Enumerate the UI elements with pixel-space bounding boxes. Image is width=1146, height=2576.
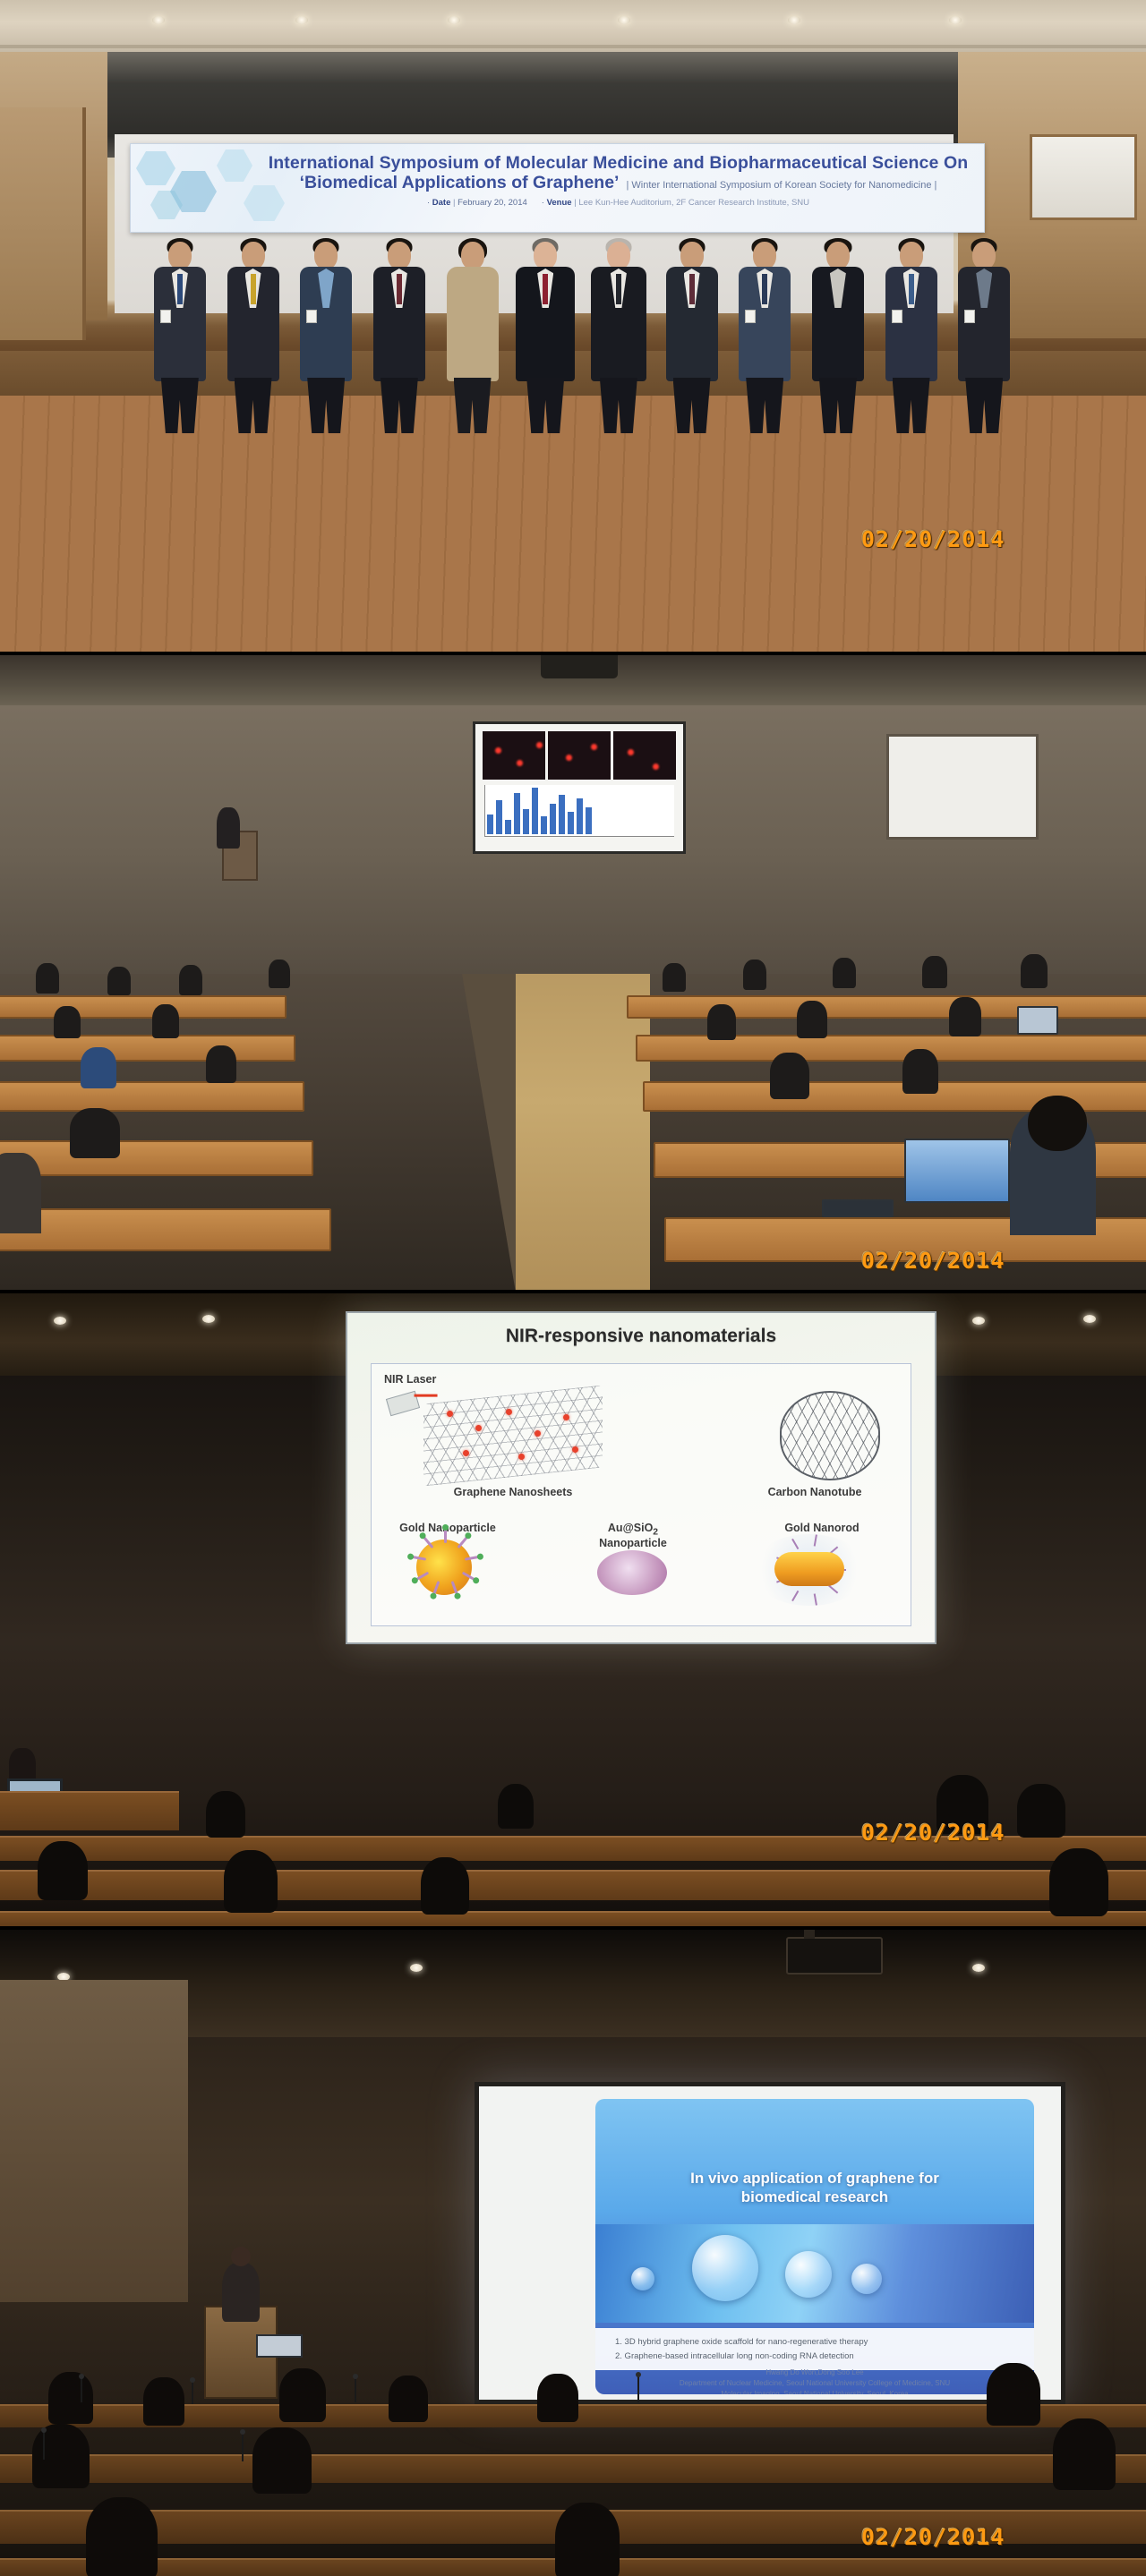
ceiling — [0, 0, 1146, 55]
ceiling-projector — [541, 655, 618, 678]
person — [947, 235, 1021, 431]
carbon-nanotube-graphic — [780, 1391, 880, 1480]
ceiling-projector — [786, 1937, 883, 1975]
audience-member — [32, 2424, 90, 2488]
desk-microphone — [192, 2381, 193, 2404]
person — [289, 235, 363, 431]
desk-microphone — [43, 2431, 45, 2460]
slide-title-line2: biomedical research — [595, 2188, 1034, 2206]
gold-nanorod-graphic — [774, 1552, 844, 1586]
side-whiteboard — [886, 734, 1039, 840]
audience-member — [1028, 1096, 1087, 1151]
audience-desk — [0, 1870, 1146, 1900]
audience-member — [833, 958, 856, 988]
desk-microphone — [81, 2377, 82, 2402]
audience-desk — [0, 1911, 1146, 1926]
audience-member — [537, 2374, 578, 2422]
desk-row — [0, 1140, 313, 1176]
panel-group-photo: International Symposium of Molecular Med… — [0, 0, 1146, 652]
audience-member — [54, 1006, 81, 1038]
photo-collage: International Symposium of Molecular Med… — [0, 0, 1146, 2576]
ceiling-light — [410, 1964, 423, 1972]
audience-member — [1021, 954, 1048, 988]
slide-bullet-1: 1. 3D hybrid graphene oxide scaffold for… — [615, 2335, 1014, 2350]
desk-row — [0, 1035, 295, 1062]
audience-member — [179, 965, 202, 995]
label-subscript: 2 — [653, 1527, 658, 1537]
podium-laptop — [256, 2334, 303, 2358]
ceiling-light — [152, 16, 165, 24]
audience-member — [152, 1004, 179, 1038]
desk-row — [627, 995, 1146, 1019]
person — [143, 235, 217, 431]
audience-member — [498, 1784, 534, 1829]
nir-laser-label: NIR Laser — [384, 1373, 436, 1386]
desk-microphone — [637, 2376, 639, 2402]
person — [217, 235, 290, 431]
audience-member — [206, 1045, 236, 1083]
au-sio2-nanoparticle-graphic — [597, 1550, 667, 1595]
banner-date-value: February 20, 2014 — [458, 198, 527, 208]
label-nanoparticle-text: Nanoparticle — [599, 1537, 667, 1549]
desk-microphone — [355, 2377, 356, 2402]
ceiling-light — [1083, 1315, 1096, 1323]
desk-microphone — [242, 2433, 244, 2461]
person — [509, 235, 582, 431]
ceiling-light — [295, 16, 308, 24]
left-wall — [0, 1980, 188, 2302]
banner-title-line2: ‘Biomedical Applications of Graphene’ — [300, 173, 620, 192]
banner-date-label: Date — [432, 198, 451, 208]
slide-title: NIR-responsive nanomaterials — [347, 1326, 935, 1347]
audience-member — [389, 2376, 428, 2422]
audience-member — [743, 960, 766, 990]
audience-member — [922, 956, 947, 988]
banner-subtitle: | Winter International Symposium of Kore… — [626, 180, 936, 192]
audience-member — [987, 2363, 1040, 2426]
ceiling-light — [54, 1317, 66, 1325]
panel-lecture-hall-wide: 02/20/2014 — [0, 655, 1146, 1290]
audience-member — [143, 2377, 184, 2426]
panel-invivo-slide: In vivo application of graphene for biom… — [0, 1930, 1146, 2576]
ceiling-light — [949, 16, 962, 24]
desk-row — [0, 995, 286, 1019]
slide-credit-line1: Hwang Do Won,Dong Soo Lee — [595, 2367, 1034, 2378]
audience-member — [48, 2372, 93, 2424]
banner-venue-label: Venue — [547, 198, 572, 208]
person — [436, 235, 509, 431]
slide-micrograph — [613, 731, 676, 780]
center-aisle — [516, 974, 650, 1290]
audience-member — [224, 1850, 278, 1913]
slide-title: In vivo application of graphene for biom… — [595, 2169, 1034, 2207]
projection-screen — [473, 721, 686, 854]
label-au-sio2-text: Au@SiO — [608, 1522, 653, 1534]
desk-row — [0, 1208, 331, 1251]
person — [582, 235, 655, 431]
label-gold-nanorod: Gold Nanorod — [764, 1522, 880, 1534]
wood-floor — [0, 396, 1146, 652]
audience-member — [797, 1001, 827, 1038]
ceiling-light — [972, 1964, 985, 1972]
panel-nir-slide: NIR-responsive nanomaterials NIR Laser G — [0, 1293, 1146, 1926]
audience-member — [707, 1004, 736, 1040]
audience-member — [206, 1791, 245, 1838]
banner-title-line1: International Symposium of Molecular Med… — [265, 153, 971, 173]
banner-venue-value: Lee Kun-Hee Auditorium, 2F Cancer Resear… — [578, 198, 809, 208]
person — [801, 235, 875, 431]
audience-member — [86, 2497, 158, 2576]
person — [655, 235, 729, 431]
slide-bar-chart — [484, 785, 674, 837]
audience-member — [949, 997, 981, 1036]
slide-bullets: 1. 3D hybrid graphene oxide scaffold for… — [595, 2328, 1034, 2370]
laser-pointer-icon — [386, 1391, 420, 1417]
ceiling-light — [972, 1317, 985, 1325]
symposium-banner: International Symposium of Molecular Med… — [130, 143, 985, 233]
presenter — [222, 2263, 260, 2322]
audience-desk-row — [0, 2454, 1146, 2483]
audience-member — [1017, 1784, 1065, 1838]
ceiling-light — [202, 1315, 215, 1323]
projection-screen: In vivo application of graphene for biom… — [475, 2082, 1065, 2404]
audience-member — [279, 2368, 326, 2422]
audience-member — [70, 1108, 120, 1158]
speaker-at-podium — [217, 807, 240, 849]
audience-member — [107, 967, 131, 995]
ceiling-light — [448, 16, 460, 24]
label-au-sio2-nanoparticle: Au@SiO2 Nanoparticle — [579, 1522, 687, 1550]
audience-member — [269, 960, 290, 988]
audience-member — [36, 963, 59, 994]
laptop — [822, 1199, 894, 1217]
audience-member — [663, 963, 686, 992]
timestamp: 02/20/2014 — [861, 526, 1005, 552]
stage-door — [0, 107, 86, 340]
slide-bullet-2: 2. Graphene-based intracellular long non… — [615, 2350, 1014, 2364]
slide-credit: Hwang Do Won,Dong Soo Lee Department of … — [595, 2367, 1034, 2394]
audience-member — [902, 1049, 938, 1094]
timestamp: 02/20/2014 — [861, 1820, 1005, 1846]
slide-title-line1: In vivo application of graphene for — [595, 2169, 1034, 2188]
desk-row — [0, 1081, 304, 1112]
audience-member — [1049, 1848, 1108, 1916]
ceiling-light — [788, 16, 800, 24]
slide-hero-image — [595, 2224, 1034, 2323]
audience-member — [252, 2427, 312, 2494]
label-carbon-nanotube: Carbon Nanotube — [739, 1486, 891, 1498]
audience-member — [555, 2503, 620, 2576]
person — [363, 235, 436, 431]
label-graphene-nanosheets: Graphene Nanosheets — [418, 1486, 608, 1498]
speaker-group — [143, 235, 1021, 431]
slide-micrograph — [548, 731, 611, 780]
slide-micrograph — [483, 731, 545, 780]
slide-credit-line2: Department of Nuclear Medicine, Seoul Na… — [595, 2378, 1034, 2389]
audience-desk — [0, 1791, 179, 1830]
person — [875, 235, 948, 431]
timestamp: 02/20/2014 — [861, 2524, 1005, 2550]
ceiling-light — [618, 16, 630, 24]
gold-nanoparticle-graphic — [416, 1540, 472, 1595]
laptop — [904, 1139, 1010, 1203]
audience-member — [38, 1841, 88, 1900]
audience-member — [1053, 2418, 1116, 2490]
audience-member — [421, 1857, 469, 1915]
slide-credit-line3: Molecular Imaging, Seoul National Univer… — [595, 2389, 1034, 2394]
graphene-nanosheet-graphic — [423, 1395, 603, 1477]
audience-member — [0, 1153, 41, 1233]
timestamp: 02/20/2014 — [861, 1248, 1005, 1274]
slide-body: NIR Laser Graphene Nanosheets Carbon Nan… — [371, 1363, 911, 1626]
banner-meta: · Date | February 20, 2014 · Venue | Lee… — [265, 198, 971, 208]
audience-member — [81, 1047, 116, 1088]
audience-member — [770, 1053, 809, 1099]
laptop — [1017, 1006, 1058, 1035]
flipchart-board — [1030, 134, 1137, 220]
projected-slide: NIR-responsive nanomaterials NIR Laser G — [346, 1311, 936, 1644]
person — [728, 235, 801, 431]
title-slide: In vivo application of graphene for biom… — [595, 2099, 1034, 2394]
